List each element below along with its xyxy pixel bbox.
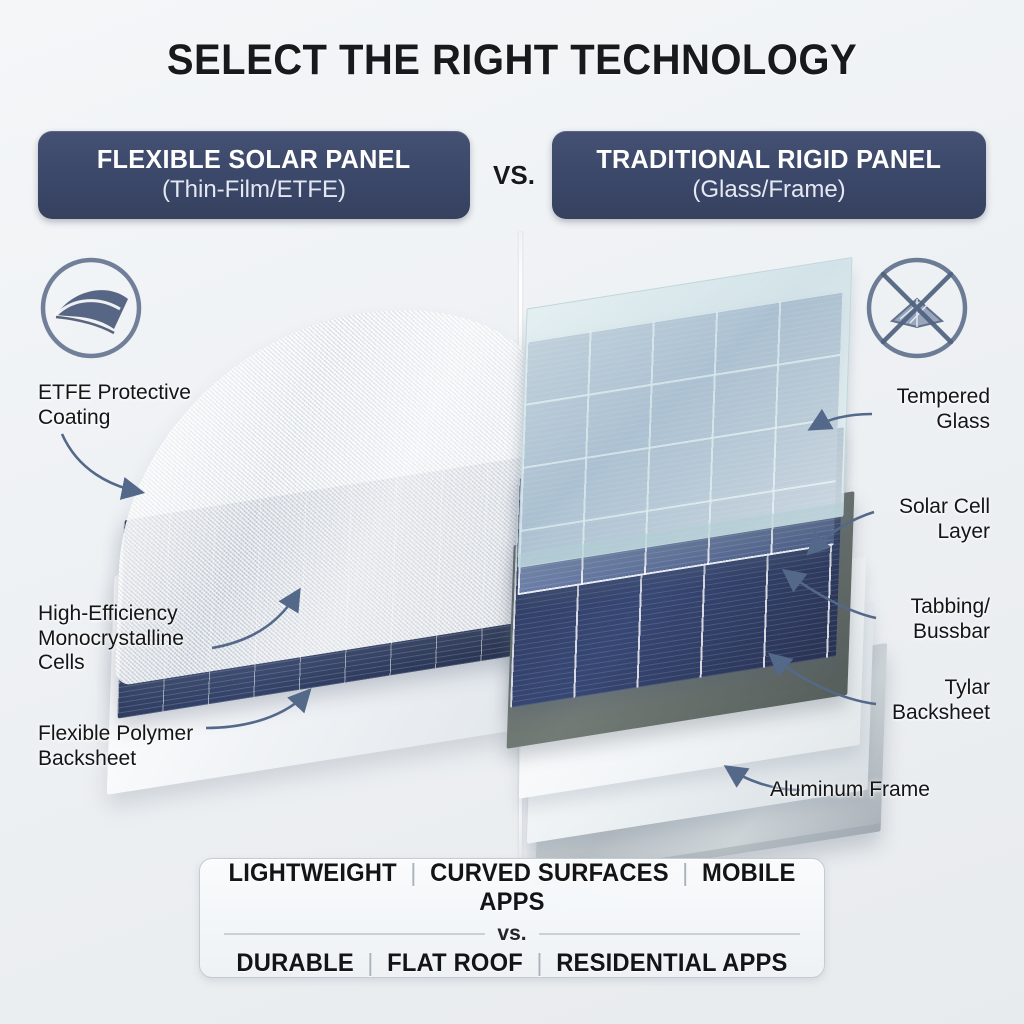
footer-rule-left bbox=[224, 933, 485, 935]
label-monocrystalline: High-Efficiency Monocrystalline Cells bbox=[38, 602, 278, 676]
label-tempered-glass: Tempered Glass bbox=[790, 385, 990, 434]
footer-separator: | bbox=[530, 949, 550, 977]
footer-bottom-row: DURABLE | FLAT ROOF | RESIDENTIAL APPS bbox=[216, 949, 809, 978]
footer-vs-text: vs. bbox=[497, 922, 526, 946]
arrow-etfe bbox=[62, 434, 140, 492]
vs-divider-top: VS. bbox=[488, 160, 540, 191]
header-pill-rigid: TRADITIONAL RIGID PANEL (Glass/Frame) bbox=[552, 131, 986, 219]
page-title: SELECT THE RIGHT TECHNOLOGY bbox=[36, 36, 988, 85]
footer-item: FLAT ROOF bbox=[387, 949, 523, 977]
label-etfe-coating: ETFE Protective Coating bbox=[38, 381, 258, 430]
label-solar-cell-layer: Solar Cell Layer bbox=[790, 495, 990, 544]
header-left-line1: FLEXIBLE SOLAR PANEL bbox=[97, 144, 411, 175]
footer-separator: | bbox=[404, 859, 424, 887]
footer-item: RESIDENTIAL APPS bbox=[556, 949, 787, 977]
header-pill-flexible: FLEXIBLE SOLAR PANEL (Thin-Film/ETFE) bbox=[38, 131, 470, 219]
footer-separator: | bbox=[676, 859, 696, 887]
footer-top-row: LIGHTWEIGHT | CURVED SURFACES | MOBILE A… bbox=[216, 859, 809, 917]
label-aluminum-frame: Aluminum Frame bbox=[770, 778, 988, 803]
footer-rule-right bbox=[539, 933, 800, 935]
infographic-canvas: SELECT THE RIGHT TECHNOLOGY FLEXIBLE SOL… bbox=[0, 0, 1024, 1024]
footer-item: LIGHTWEIGHT bbox=[228, 859, 396, 887]
header-right-line1: TRADITIONAL RIGID PANEL bbox=[597, 144, 942, 175]
label-flexible-backsheet: Flexible Polymer Backsheet bbox=[38, 722, 278, 771]
header-left-line2: (Thin-Film/ETFE) bbox=[162, 176, 346, 204]
footer-vs-row: vs. bbox=[200, 922, 824, 946]
footer-item: CURVED SURFACES bbox=[430, 859, 669, 887]
label-tabbing-bussbar: Tabbing/ Bussbar bbox=[790, 595, 990, 644]
header-right-line2: (Glass/Frame) bbox=[692, 176, 845, 204]
footer-separator: | bbox=[361, 949, 381, 977]
summary-footer-box: LIGHTWEIGHT | CURVED SURFACES | MOBILE A… bbox=[199, 858, 825, 978]
footer-item: DURABLE bbox=[236, 949, 353, 977]
flexible-sheet-icon bbox=[36, 253, 146, 363]
no-bend-rigid-panel-icon bbox=[862, 253, 972, 363]
label-tylar-backsheet: Tylar Backsheet bbox=[790, 676, 990, 725]
